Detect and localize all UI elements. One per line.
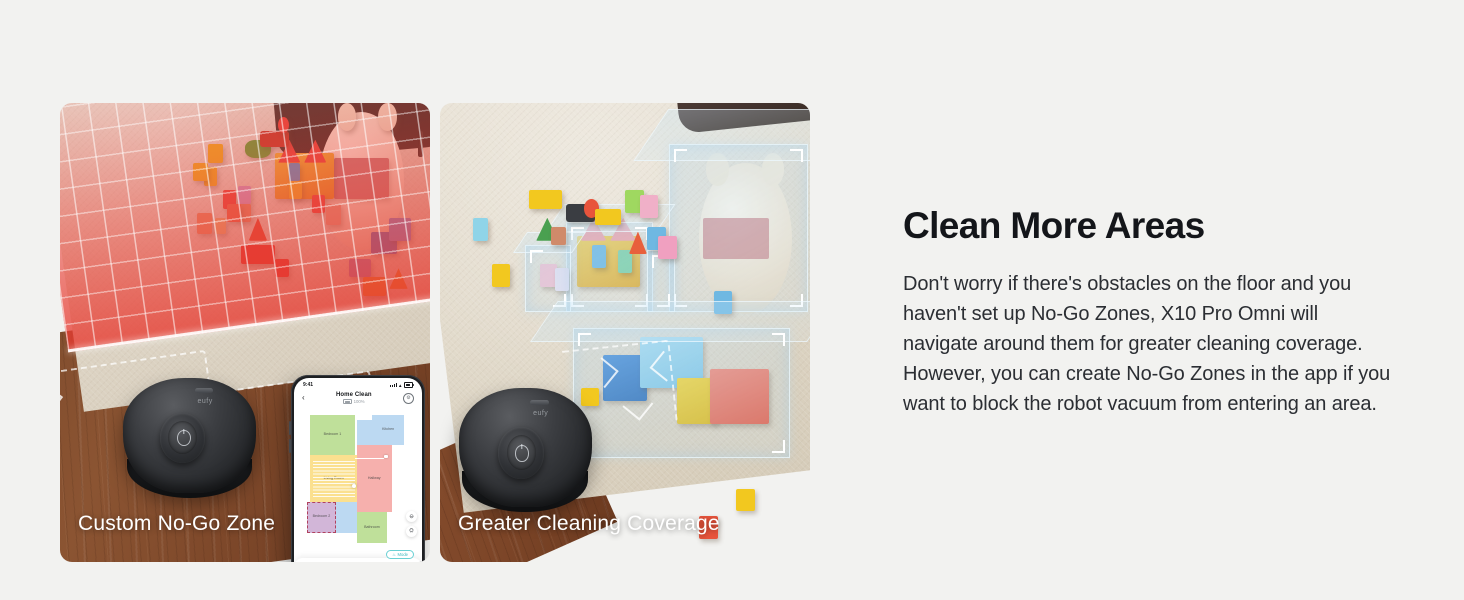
battery-icon bbox=[404, 382, 413, 388]
toy-block-long bbox=[595, 209, 621, 225]
phone-bottom-sheet: ♨ Mode Cleaning bbox=[294, 558, 422, 562]
toy-cylinder bbox=[473, 218, 488, 241]
panel-custom-no-go-zone: eufy Custom No-Go Zone 9:41 ▲ bbox=[60, 103, 430, 562]
map-fill bbox=[336, 502, 357, 533]
toy-block-long bbox=[529, 190, 562, 208]
phone-screen: 9:41 ▲ ‹ Home Clean bbox=[294, 378, 422, 562]
robot-position-marker bbox=[352, 484, 356, 488]
map-room-bedroom-2[interactable]: Bedroom 2 bbox=[307, 502, 336, 533]
status-icons: ▲ bbox=[390, 382, 413, 388]
battery-level-label: 100% bbox=[354, 399, 365, 404]
map-room-bathroom[interactable]: Bathroom bbox=[357, 512, 387, 543]
wifi-icon: ▲ bbox=[398, 383, 402, 388]
power-button bbox=[507, 435, 536, 470]
map-room-kitchen[interactable]: Kitchen bbox=[372, 415, 404, 445]
robot-locate-icon[interactable]: ⛭ bbox=[406, 526, 417, 537]
toy-block bbox=[492, 264, 511, 287]
gear-icon[interactable]: ⚙ bbox=[403, 393, 414, 404]
battery-level-icon bbox=[343, 399, 352, 404]
sensor-strip bbox=[530, 400, 549, 406]
obstacle-bounding-box-bear bbox=[669, 144, 808, 311]
phone-volume-up-button[interactable] bbox=[289, 421, 291, 435]
floor-map[interactable]: Bedroom 1 Kitchen Living Room Hallway Be… bbox=[300, 409, 416, 558]
toy-block bbox=[551, 227, 566, 245]
panel-greater-cleaning-coverage: eufy Greater Cleaning Coverage bbox=[440, 103, 810, 562]
marketing-banner: eufy Custom No-Go Zone 9:41 ▲ bbox=[0, 0, 1464, 600]
brand-logo: eufy bbox=[533, 410, 548, 417]
sensor-strip bbox=[195, 388, 214, 394]
lidar-turret bbox=[498, 427, 543, 480]
text-column: Clean More Areas Don't worry if there's … bbox=[903, 206, 1393, 419]
bounding-box-corner bbox=[530, 250, 543, 263]
panel-caption-left: Custom No-Go Zone bbox=[78, 512, 275, 536]
bounding-box-corner bbox=[790, 149, 803, 162]
robot-vacuum-left: eufy bbox=[123, 378, 256, 493]
power-icon bbox=[177, 430, 191, 446]
brand-logo: eufy bbox=[197, 398, 212, 405]
phone-mockup: 9:41 ▲ ‹ Home Clean bbox=[291, 375, 425, 562]
map-room-bedroom-1[interactable]: Bedroom 1 bbox=[310, 415, 354, 455]
mode-icon: ♨ bbox=[392, 552, 396, 557]
robot-vacuum-right: eufy bbox=[459, 388, 592, 507]
map-save-icon[interactable]: ⊖ bbox=[406, 511, 417, 522]
phone-volume-down-button[interactable] bbox=[289, 439, 291, 453]
cleaning-path-overlay bbox=[313, 460, 355, 497]
phone-status-bar: 9:41 ▲ bbox=[294, 378, 422, 389]
mode-label: Mode bbox=[398, 552, 408, 557]
bounding-box-corner bbox=[674, 149, 687, 162]
route-line bbox=[355, 458, 384, 459]
map-controls: ⊖ ⛭ bbox=[406, 511, 417, 537]
toy-block bbox=[658, 236, 677, 259]
page-title: Clean More Areas bbox=[903, 206, 1393, 247]
signal-icon bbox=[390, 383, 396, 387]
dock-marker bbox=[384, 455, 388, 458]
mode-button[interactable]: ♨ Mode bbox=[386, 550, 414, 559]
nav-title-group: Home Clean 100% bbox=[305, 392, 403, 404]
status-time: 9:41 bbox=[303, 382, 313, 388]
right-scene: eufy Greater Cleaning Coverage bbox=[440, 103, 810, 562]
power-button bbox=[168, 421, 197, 454]
body-paragraph: Don't worry if there's obstacles on the … bbox=[903, 269, 1393, 419]
panel-caption-right: Greater Cleaning Coverage bbox=[458, 512, 720, 536]
phone-nav-bar: ‹ Home Clean 100% ⚙ bbox=[294, 389, 422, 404]
toy-block bbox=[640, 195, 659, 218]
power-icon bbox=[515, 445, 529, 462]
battery-status: 100% bbox=[305, 399, 403, 404]
map-title: Home Clean bbox=[305, 392, 403, 398]
map-fill bbox=[357, 420, 372, 445]
